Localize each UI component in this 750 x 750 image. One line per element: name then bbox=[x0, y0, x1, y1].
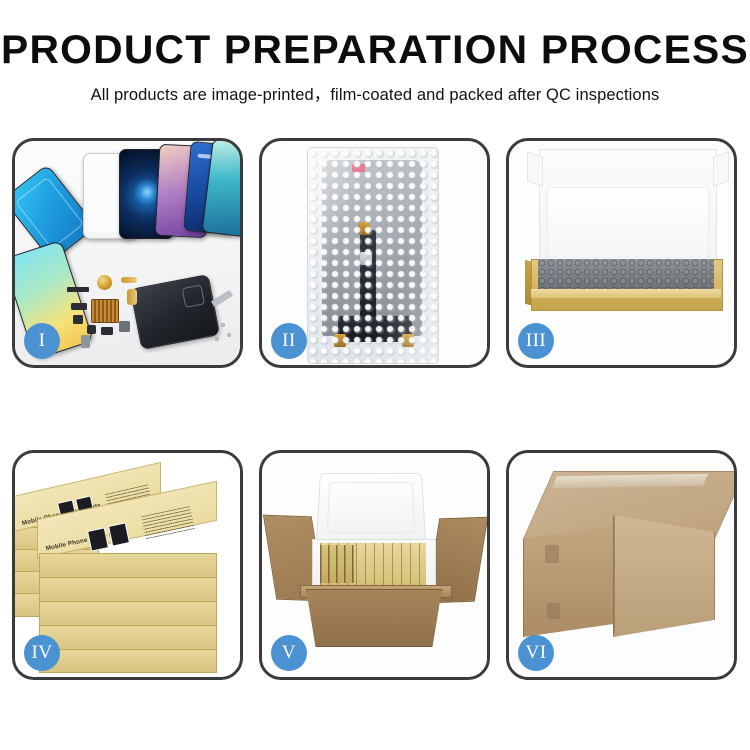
process-step-panel-1[interactable]: I bbox=[12, 138, 243, 368]
page-header: PRODUCT PREPARATION PROCESS All products… bbox=[0, 0, 750, 105]
page-title: PRODUCT PREPARATION PROCESS bbox=[0, 30, 750, 70]
process-step-panel-2[interactable]: II bbox=[259, 138, 490, 368]
process-step-panel-6[interactable]: VI bbox=[506, 450, 737, 680]
step-badge-5: V bbox=[271, 635, 307, 671]
process-step-panel-3[interactable]: III bbox=[506, 138, 737, 368]
step-badge-2: II bbox=[271, 323, 307, 359]
step-badge-4: IV bbox=[24, 635, 60, 671]
process-step-panel-4[interactable]: Mobile Phone Spare Parts Mobile Phone Sp… bbox=[12, 450, 243, 680]
process-step-grid: I II bbox=[12, 138, 738, 680]
step-badge-6: VI bbox=[518, 635, 554, 671]
process-step-panel-5[interactable]: V bbox=[259, 450, 490, 680]
step-badge-1: I bbox=[24, 323, 60, 359]
step-badge-3: III bbox=[518, 323, 554, 359]
page-subtitle: All products are image-printed，film-coat… bbox=[0, 81, 750, 105]
